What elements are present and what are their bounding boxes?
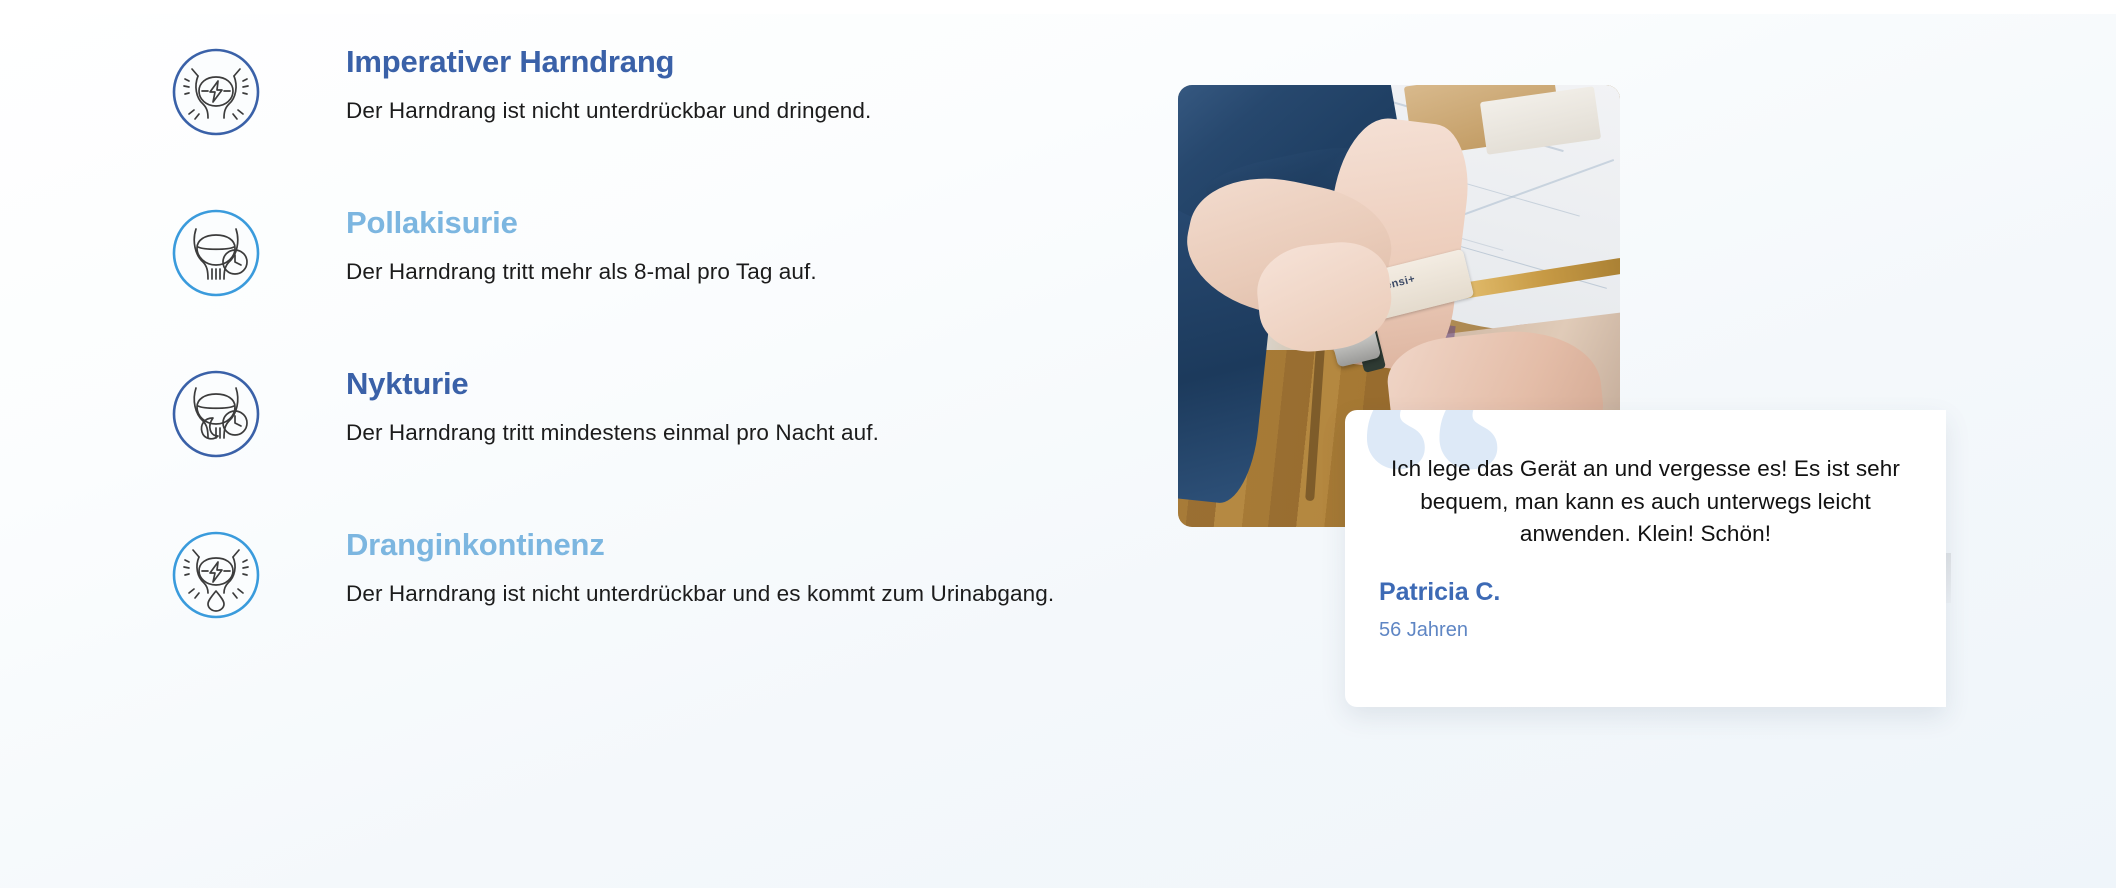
symptom-text-block: Dranginkontinenz Der Harndrang ist nicht… (346, 525, 1054, 609)
symptom-title: Nykturie (346, 366, 879, 402)
symptom-text-block: Pollakisurie Der Harndrang tritt mehr al… (346, 203, 817, 287)
bladder-clock-icon (172, 209, 260, 297)
symptom-description: Der Harndrang tritt mehr als 8-mal pro T… (346, 257, 817, 287)
symptom-text-block: Nykturie Der Harndrang tritt mindestens … (346, 364, 879, 448)
symptom-item-imperativer-harndrang: Imperativer Harndrang Der Harndrang ist … (172, 42, 1152, 203)
symptom-title: Imperativer Harndrang (346, 44, 871, 80)
symptom-item-dranginkontinenz: Dranginkontinenz Der Harndrang ist nicht… (172, 525, 1152, 686)
testimonial-quote: Ich lege das Gerät an und vergesse es! E… (1386, 453, 1905, 551)
bladder-lightning-icon (172, 48, 260, 136)
symptom-description: Der Harndrang ist nicht unterdrückbar un… (346, 96, 871, 126)
testimonial-author: Patricia C. (1379, 578, 1946, 607)
symptom-item-pollakisurie: Pollakisurie Der Harndrang tritt mehr al… (172, 203, 1152, 364)
symptom-description: Der Harndrang tritt mindestens einmal pr… (346, 418, 879, 448)
bladder-lightning-drop-icon (172, 531, 260, 619)
testimonial-card: “ Ich lege das Gerät an und vergesse es!… (1345, 410, 1946, 707)
testimonial-age: 56 Jahren (1379, 619, 1946, 642)
symptom-description: Der Harndrang ist nicht unterdrückbar un… (346, 579, 1054, 609)
symptom-list: Imperativer Harndrang Der Harndrang ist … (172, 42, 1152, 686)
bladder-moon-clock-icon (172, 370, 260, 458)
media-area: tensi+ “ Ich lege das Gerät an und verge… (1178, 85, 1946, 765)
symptom-title: Pollakisurie (346, 205, 817, 241)
symptom-item-nykturie: Nykturie Der Harndrang tritt mindestens … (172, 364, 1152, 525)
symptom-text-block: Imperativer Harndrang Der Harndrang ist … (346, 42, 871, 126)
symptom-title: Dranginkontinenz (346, 527, 1054, 563)
